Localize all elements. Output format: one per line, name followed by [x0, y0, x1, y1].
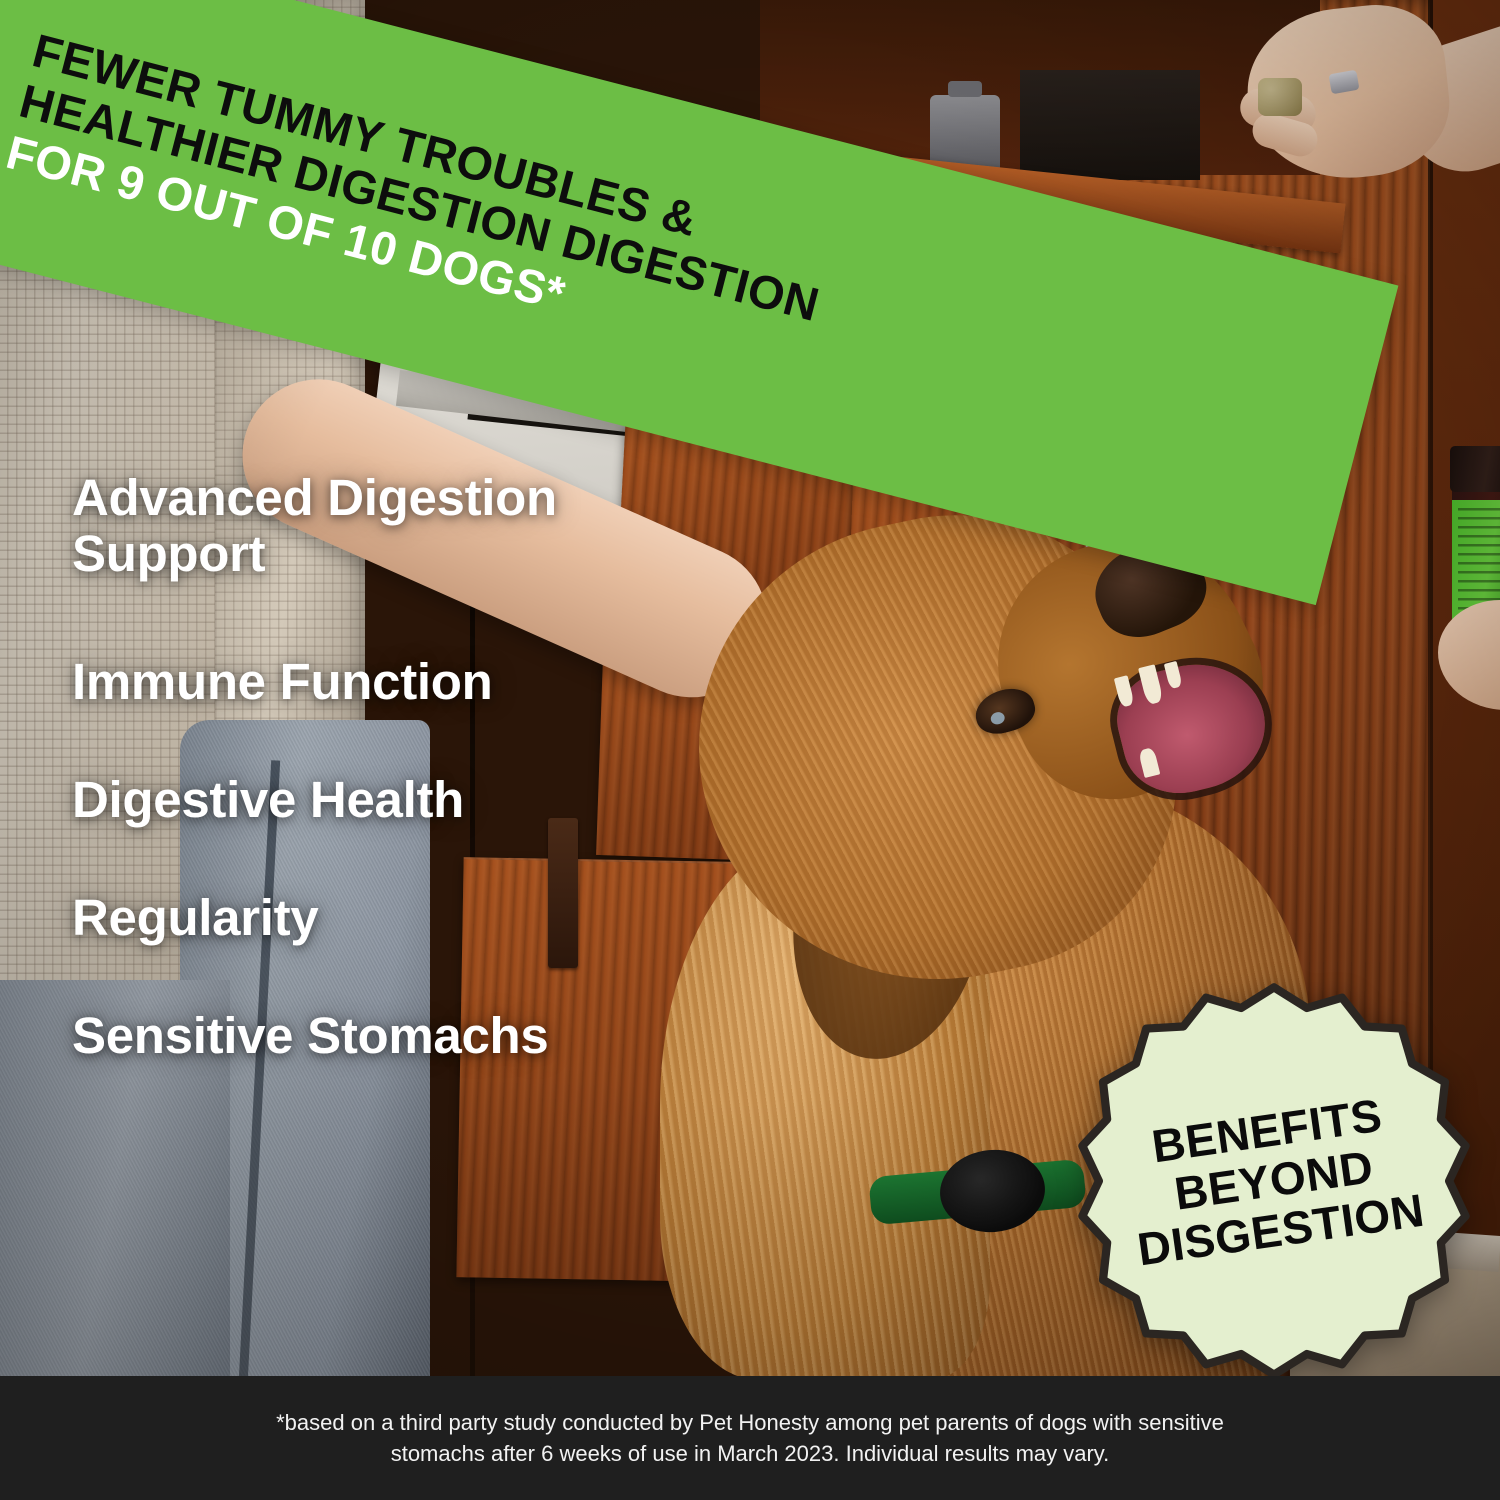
- starburst-icon: [1068, 972, 1480, 1390]
- benefit-item-4: Regularity: [72, 890, 712, 946]
- benefits-badge: BENEFITS BEYOND DISGESTION: [1068, 972, 1480, 1390]
- dog-chew-treat: [1258, 78, 1302, 116]
- benefit-item-1: Advanced Digestion Support: [72, 470, 712, 582]
- kitchen-appliance: [1020, 70, 1200, 180]
- disclaimer-text: *based on a third party study conducted …: [270, 1407, 1230, 1469]
- footer-bar: *based on a third party study conducted …: [0, 1376, 1500, 1500]
- ad-creative: FEWER TUMMY TROUBLES & HEALTHIER DIGESTI…: [0, 0, 1500, 1500]
- benefit-item-3: Digestive Health: [72, 772, 712, 828]
- benefit-item-5: Sensitive Stomachs: [72, 1008, 712, 1064]
- benefit-item-2: Immune Function: [72, 654, 712, 710]
- benefits-list: Advanced Digestion Support Immune Functi…: [72, 470, 712, 1065]
- bottle-cap: [1450, 446, 1500, 492]
